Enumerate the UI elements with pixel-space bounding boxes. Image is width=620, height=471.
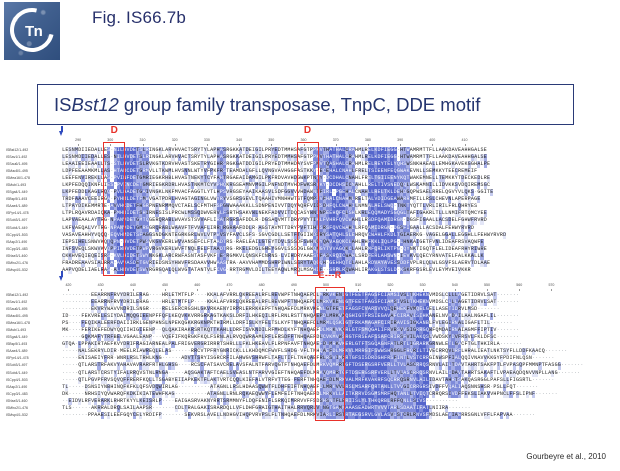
- sequence-residues: ·····ENISAEIYFRR·WNRLRSLTRHLKNG······ADV…: [62, 355, 554, 362]
- sequence-residues: ·········EKVRYWAVVNDRILSNGR····RELSERCRG…: [62, 306, 500, 313]
- sequence-residues: ·········EEARRNFRVYDRILERAG····HRLETMTFL…: [62, 299, 519, 306]
- ruler-tick-mark: [229, 289, 230, 291]
- sequence-label[interactable]: ISBst12/1-492: [6, 292, 58, 299]
- sequence-label[interactable]: ISAae4/1-489: [6, 348, 58, 355]
- page-title: ISBst12 group family transposase, TnpC, …: [38, 94, 480, 116]
- sequence-label[interactable]: ISSau6/1-495: [6, 161, 58, 168]
- sequence-label[interactable]: ISPpr14/1-478: [6, 210, 58, 217]
- sequence-label[interactable]: ISSob3/1-497: [6, 362, 58, 369]
- ruler-tick-mark: [455, 289, 456, 291]
- ruler-tick-label: 550: [484, 283, 490, 287]
- sequence-row[interactable]: ISMac8/1-495ID····FEKVRELESIYDAIMQQGIEEN…: [0, 313, 620, 320]
- sequence-row[interactable]: ISCpp3/1-483INFSVEQLSKWVKVQPPIWHVDETPWPV…: [0, 246, 620, 253]
- sequence-label[interactable]: ISMsp4/1-532: [6, 412, 58, 419]
- sequence-row[interactable]: ISMsp4/1-532········PPAAESILEEFGQYCELYRD…: [0, 412, 620, 419]
- title-suffix: group family transposase, TnpC, DDE moti…: [119, 94, 481, 115]
- ruler-tick-mark: [326, 289, 327, 291]
- alignment-block-1: 290300310320330340350360370380390400410 …: [0, 138, 620, 278]
- sequence-label[interactable]: ISMub/1-493: [6, 327, 58, 334]
- sequence-row[interactable]: ISAsp2/1-490IEPSIHELSNWVKQTQPN·HVDETPWSV…: [0, 239, 620, 246]
- sequence-residues: AAPVQDELIAELRAS·ALHRVDETSWYRGRGQALQLWVGT…: [62, 267, 471, 274]
- ruler-tick-mark: [262, 289, 263, 291]
- sequence-residues: ·····NALSEKRYLDIR·MEELRIAWREQLELAS······…: [62, 348, 567, 355]
- sequence-label[interactable]: ISSav1/1-492: [6, 299, 58, 306]
- sequence-row[interactable]: ISNse3/1-460··EIDVLRFVERARKLRHRTKYYLKEIS…: [0, 398, 620, 405]
- sequence-residues: LAPVAEAALAYTRG·NPANVDETGMTQGERQRABLWVAVS…: [62, 217, 487, 224]
- ruler-tick-mark: [197, 289, 198, 291]
- ruler-tick-label: 570: [548, 283, 554, 287]
- ruler-tick-mark: [465, 144, 466, 146]
- sequence-label[interactable]: ISSga4/1-449: [6, 189, 58, 196]
- sequence-residues: ·····QTLPGVPFRVSQVQFFRERFKQLLTSGABYEIIAP…: [62, 377, 554, 384]
- sequence-row[interactable]: ISBst12/1-492·········EEARRNFRVYDRILERAG…: [0, 292, 620, 299]
- ruler-block-1: 290300310320330340350360370380390400410: [0, 138, 620, 147]
- ruler-tick-label: 340: [236, 138, 242, 142]
- sequence-label[interactable]: ISCpp4/1-503: [6, 232, 58, 239]
- sequence-row[interactable]: ISBsp5/1-493GTQA·LPPAKIRTAEFKVYDRIFRAGIA…: [0, 341, 620, 348]
- sequence-row[interactable]: ISSga4/1-449LKPFEDDLKAGLRQQ·PVLHADETGAIV…: [0, 189, 620, 196]
- sequence-residues: IEPSIHELSNWVKQTQPN·HVDETPWSVKGVKERLWVVAN…: [62, 239, 484, 246]
- ruler-block-2: 4204304404504604704804905005105205305405…: [0, 283, 620, 292]
- ruler-tick-label: 420: [65, 283, 71, 287]
- sequence-label[interactable]: ISNse3/1-460: [6, 253, 58, 260]
- sequence-residues: FRADREAAVSIALRRA·AVVASDETGVRIEDSNSYHWVFR…: [62, 260, 490, 267]
- sequence-residues: ID····FEKVRELESIYDAIMQQGIEENPFFQFLKEQVKK…: [62, 313, 519, 320]
- sequence-row[interactable]: ISMsp4/1-532AAPVQDELIAELRAS·ALHRVDETSWYR…: [0, 267, 620, 274]
- ruler-tick-label: 390: [397, 138, 403, 142]
- sequence-label[interactable]: ISMea16/1-478: [6, 175, 58, 182]
- motif-residue-label: D: [103, 126, 125, 136]
- sequence-row[interactable]: ISSob3/1-497·····QTLARSTRFAKVYAHAVAVRARF…: [0, 362, 620, 369]
- sequence-residues: ··EIDVLRFVERARKLRHRTKYYLKEISRLP····EAIGA…: [62, 398, 458, 405]
- sequence-row[interactable]: ISMho2/1-476TLS······AKRRALDRQLSAILAAPSR…: [0, 405, 620, 412]
- sequence-label[interactable]: ISSau6/1-495: [6, 306, 58, 313]
- sequence-row[interactable]: ISMea16/1-478LEEFENVIREKLLAS·PVINFDETGMR…: [0, 175, 620, 182]
- block-start-marker-stem: [61, 126, 63, 132]
- sequence-residues: ······GQKMAFYTRFBELVGAALEANP···VQEFIFKQR…: [62, 334, 519, 341]
- sequence-residues: INFSVEQLSKWVKVQPPIWHVDETPWPVRGVKERLWVFTN…: [62, 246, 487, 253]
- ruler-tick-mark: [165, 289, 166, 291]
- sequence-label[interactable]: ISSav1/1-492: [6, 154, 58, 161]
- isfinder-logo: Tn: [4, 2, 60, 60]
- ruler-tick-label: 520: [387, 283, 393, 287]
- ruler-tick-label: 510: [355, 283, 361, 287]
- sequence-residues: CKKHVEQIEQEISRS·KVLHIDETSWYNKGKLARCRWFAS…: [62, 253, 484, 260]
- sequence-row[interactable]: ISNse3/1-460CKKHVEQIEQEISRS·KVLHIDETSWYN…: [0, 253, 620, 260]
- sequence-label[interactable]: ISBsp5/1-493: [6, 196, 58, 203]
- sequence-residues: LEAAIEEIEAALLTS·STLHVDETSLRVKGTKDRVHVAST…: [62, 161, 490, 168]
- motif-residue-label: E---R: [315, 271, 345, 280]
- sequence-residues: LDPFEEAAMKMLLAS·HTARCDETGRMVLLTKWMLHVSNN…: [62, 168, 477, 175]
- sequence-row[interactable]: ISBst12/1-492LESNMDIIEDALLES·NILHVDETSLR…: [0, 147, 620, 154]
- ruler-tick-label: 540: [452, 283, 458, 287]
- ruler-tick-mark: [487, 289, 488, 291]
- ruler-tick-label: 370: [333, 138, 339, 142]
- ruler-tick-mark: [133, 289, 134, 291]
- sequence-label[interactable]: ISSob4/1-449: [6, 370, 58, 377]
- sequence-row[interactable]: ISMho2/1-476FRADREAAVSIALRRA·AVVASDETGVR…: [0, 260, 620, 267]
- sequence-row[interactable]: ISSga4/1-449······GQKMAFYTRFBELVGAALEANP…: [0, 334, 620, 341]
- sequence-residues: LKPFEDDLKAGLRQQ·PVLHADETGAIVNGKLNKFMVACF…: [62, 189, 493, 196]
- sequence-row[interactable]: ISCpp4/1-503·····QTLPGVPFRVSQVQFFRERFKQL…: [0, 377, 620, 384]
- sequence-row[interactable]: ISMea16/1-478PS····FEQIKALEERFDAIIIRKLGE…: [0, 320, 620, 327]
- sequence-residues: ········PPAAESILEEFGQYCELYRDIFP·······SE…: [62, 412, 535, 419]
- sequence-label[interactable]: ISCpp3/1-483: [6, 246, 58, 253]
- ruler-tick-label: 430: [98, 283, 104, 287]
- ruler-tick-mark: [336, 144, 337, 146]
- sequence-label[interactable]: ISPpr14/1-478: [6, 355, 58, 362]
- sequence-label[interactable]: ISMho2/1-476: [6, 260, 58, 267]
- sequence-residues: LTPAYDIKEMMRTE·AVVHCDETFHGRPNENRMMQVCTAE…: [62, 203, 477, 210]
- sequence-row[interactable]: ISSob4/1-449LKFVAEQALVYTRG·NPANVDETGMRGG…: [0, 225, 620, 232]
- sequence-residues: TRDFAAAVCEEIRGA·PYHRLDETFMWVGATPDRLHVAGT…: [62, 196, 480, 203]
- sequence-residues: PS····FEQIKALEERFDAIIIRKLGENPHNSLNPEKQGK…: [62, 320, 513, 327]
- logo-tn-text: Tn: [25, 24, 42, 39]
- sequence-label[interactable]: ISAsp2/1-490: [6, 239, 58, 246]
- ruler-tick-label: 460: [194, 283, 200, 287]
- sequence-residues: DK·····NRHSIYQVWARQFKDKIKIATEWHFKAG·····…: [62, 391, 558, 398]
- ruler-tick-label: 480: [259, 283, 265, 287]
- ruler-tick-mark: [432, 144, 433, 146]
- sequence-label[interactable]: ISAae4/1-489: [6, 203, 58, 210]
- sequence-label[interactable]: ISSob4/1-449: [6, 225, 58, 232]
- sequence-row[interactable]: ISMac8/1-495LDPFEEAAMKMLLAS·HTARCDETGRMV…: [0, 168, 620, 175]
- ruler-tick-mark: [368, 144, 369, 146]
- ruler-tick-label: 500: [323, 283, 329, 287]
- sequence-label[interactable]: ISBst12/1-492: [6, 147, 58, 154]
- sequence-row[interactable]: ISSob4/1-449·····QTLARSTCRSTYIFALRRQVSTN…: [0, 370, 620, 377]
- sequence-row[interactable]: ISCpp3/1-483DK·····NRHSIYQVWARQFKDKIKIAT…: [0, 391, 620, 398]
- sequence-residues: TL·····DSNSIYNBHINQFKFKLQFSVDQWIRLAG····…: [62, 384, 538, 391]
- sequence-row[interactable]: ISPpr14/1-478LTPLRQAVRDAIQKA·PMHRIDETSHI…: [0, 210, 620, 217]
- ruler-tick-mark: [175, 144, 176, 146]
- sequence-residues: TLS······AKRRALDRQLSAILAAPSR·······CDLTR…: [62, 405, 471, 412]
- ruler-tick-label: 440: [130, 283, 136, 287]
- sequence-row[interactable]: ISAae4/1-489LTPAYDIKEMMRTE·AVVHCDETFHGRP…: [0, 203, 620, 210]
- ruler-tick-mark: [519, 289, 520, 291]
- ruler-tick-mark: [207, 144, 208, 146]
- sequence-residues: LKPFEDQQIKNFLIES·PVINCDETGMRIEGKRDRLHVAS…: [62, 182, 490, 189]
- sequence-label[interactable]: ISMac8/1-495: [6, 168, 58, 175]
- ruler-tick-label: 290: [75, 138, 81, 142]
- sequence-row[interactable]: ISSau6/1-495LEAAIEEIEAALLTS·STLHVDETSLRV…: [0, 161, 620, 168]
- sequence-row[interactable]: ISMub/1-493MK····FERIKEFEDWYQQIIHIGIEENP…: [0, 327, 620, 334]
- rows-block-2: ISBst12/1-492·········EEARRNFRVYDRILERAG…: [0, 292, 620, 419]
- title-banner: ISBst12 group family transposase, TnpC, …: [37, 84, 574, 125]
- sequence-row[interactable]: ISMub/1-493LKPFEDQQIKNFLIES·PVINCDETGMRI…: [0, 182, 620, 189]
- citation: Gourbeyre et al., 2010: [526, 452, 606, 461]
- ruler-tick-label: 310: [140, 138, 146, 142]
- sequence-residues: VASAVEAHHYVQQQ·EQVHMDETSFAGGSNDGKNTEGRKG…: [62, 232, 506, 239]
- sequence-label[interactable]: ISBsp5/1-493: [6, 341, 58, 348]
- ruler-tick-label: 380: [365, 138, 371, 142]
- sequence-residues: LESNMDIIEDALLES·NILHVDETSLRINGKLARVHVACT…: [62, 154, 487, 161]
- sequence-row[interactable]: ISSav1/1-492LESNMDIIEDALLES·NILHVDETSLRI…: [0, 154, 620, 161]
- sequence-residues: ·········EEARRNFRVYDRILERAG····HRLETMTFL…: [62, 292, 519, 299]
- ruler-tick-label: 450: [162, 283, 168, 287]
- sequence-row[interactable]: ISSav1/1-492·········EEARRNFRVYDRILERAG·…: [0, 299, 620, 306]
- sequence-residues: GTQA·LPPAKIRTAEFKVYDRIFRAGIARNEALPALFRIG…: [62, 341, 522, 348]
- ruler-tick-mark: [101, 289, 102, 291]
- sequence-row[interactable]: ISSau6/1-495·········EKVRYWAVVNDRILSNGR·…: [0, 306, 620, 313]
- ruler-tick-label: 350: [268, 138, 274, 142]
- sequence-label[interactable]: ISMho2/1-476: [6, 405, 58, 412]
- ruler-tick-mark: [68, 289, 69, 291]
- motif-residue-label: D: [297, 126, 319, 136]
- sequence-label[interactable]: ISAsp2/1-490: [6, 384, 58, 391]
- ruler-tick-label: 490: [291, 283, 297, 287]
- sequence-label[interactable]: ISCpp4/1-503: [6, 377, 58, 384]
- sequence-label[interactable]: ISSga4/1-449: [6, 334, 58, 341]
- ruler-tick-mark: [390, 289, 391, 291]
- ruler-tick-label: 300: [107, 138, 113, 142]
- ruler-tick-mark: [271, 144, 272, 146]
- ruler-tick-mark: [143, 144, 144, 146]
- rows-block-1: ISBst12/1-492LESNMDIIEDALLES·NILHVDETSLR…: [0, 147, 620, 274]
- title-prefix: IS: [54, 94, 71, 115]
- ruler-tick-mark: [294, 289, 295, 291]
- ruler-tick-mark: [110, 144, 111, 146]
- sequence-residues: ·····QTLARSTCRSTYIFALRRQVSTNLRNGA·····AQ…: [62, 370, 580, 377]
- ruler-tick-label: 330: [204, 138, 210, 142]
- sequence-label[interactable]: ISCpp3/1-483: [6, 391, 58, 398]
- sequence-residues: LEEFENVIREKLLAS·PVINFDETGMRIEGKRHBLHVAST…: [62, 175, 490, 182]
- sequence-label[interactable]: ISNse3/1-460: [6, 398, 58, 405]
- sequence-residues: LTPLRQAVRDAIQKA·PMHRIDETSHIRNESISLPRCWLM…: [62, 210, 487, 217]
- figure-label: Fig. IS66.7b: [92, 8, 186, 28]
- sequence-label[interactable]: ISMsp4/1-532: [6, 267, 58, 274]
- block-start-marker-stem: [61, 271, 63, 277]
- ruler-tick-label: 470: [226, 283, 232, 287]
- ruler-tick-mark: [423, 289, 424, 291]
- ruler-tick-mark: [239, 144, 240, 146]
- alignment-block-2: 4204304404504604704804905005105205305405…: [0, 283, 620, 431]
- sequence-row[interactable]: ISBsp5/1-493TRDFAAAVCEEIRGA·PYHRLDETFMWV…: [0, 196, 620, 203]
- sequence-row[interactable]: ISAsp2/1-490TL·····DSNSIYNBHINQFKFKLQFSV…: [0, 384, 620, 391]
- ruler-tick-label: 410: [462, 138, 468, 142]
- sequence-row[interactable]: ISCpp4/1-503VASAVEAHHYVQQQ·EQVHMDETSFAGG…: [0, 232, 620, 239]
- sequence-label[interactable]: ISSob3/1-497: [6, 217, 58, 224]
- ruler-tick-mark: [551, 289, 552, 291]
- ruler-tick-mark: [358, 289, 359, 291]
- ruler-tick-label: 360: [301, 138, 307, 142]
- sequence-row[interactable]: ISSob3/1-497LAPVAEAALAYTRG·NPANVDETGMTQG…: [0, 217, 620, 224]
- sequence-residues: MK····FERIKEFEDWYQQIIHIGIEENP··QLQAKIRAK…: [62, 327, 519, 334]
- sequence-residues: LESNMDIIEDALLES·NILHVDETSLRINGKLARVHVACT…: [62, 147, 487, 154]
- sequence-residues: ·····QTLARSTRFAKVYAHAVAVRARFRTHLGHSG····…: [62, 362, 583, 369]
- sequence-label[interactable]: ISMub/1-493: [6, 182, 58, 189]
- sequence-label[interactable]: ISMac8/1-495: [6, 313, 58, 320]
- ruler-tick-mark: [78, 144, 79, 146]
- ruler-tick-mark: [304, 144, 305, 146]
- sequence-residues: LKFVAEQALVYTRG·NPANVDETGMRGGRQRABLWAAVFT…: [62, 225, 474, 232]
- ruler-tick-mark: [400, 144, 401, 146]
- sequence-row[interactable]: ISPpr14/1-478·····ENISAEIYFRR·WNRLRSLTRH…: [0, 355, 620, 362]
- title-italic-name: Bst12: [71, 94, 118, 115]
- sequence-label[interactable]: ISMea16/1-478: [6, 320, 58, 327]
- ruler-tick-label: 320: [172, 138, 178, 142]
- ruler-tick-label: 530: [420, 283, 426, 287]
- ruler-tick-label: 560: [516, 283, 522, 287]
- sequence-row[interactable]: ISAae4/1-489·····NALSEKRYLDIR·MEELRIAWRE…: [0, 348, 620, 355]
- ruler-tick-label: 400: [429, 138, 435, 142]
